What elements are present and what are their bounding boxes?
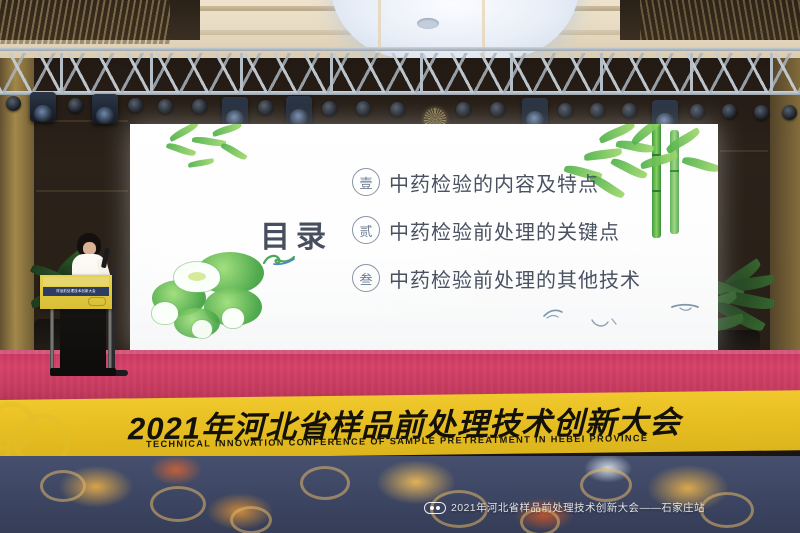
list-item: 贰 中药检验前处理的关键点 [352, 206, 692, 254]
item-text-3: 中药检验前处理的其他技术 [389, 264, 641, 293]
conference-photo: 目录 壹 中药检验的内容及特点 贰 中药检验前处理的关键点 叁 中药检验前处理的… [0, 0, 800, 533]
stage-banner: 2021年河北省样品前处理技术创新大会 TECHNICAL INNOVATION… [0, 390, 800, 460]
agenda-list: 壹 中药检验的内容及特点 贰 中药检验前处理的关键点 叁 中药检验前处理的其他技… [352, 158, 692, 302]
podium-sign: 样品前处理技术创新大会 [40, 275, 112, 309]
item-numeral-3: 叁 [352, 264, 380, 292]
podium [60, 300, 106, 372]
lighting-truss [0, 47, 800, 109]
chandelier-right [640, 0, 800, 40]
watermark: 2021年河北省样品前处理技术创新大会——石家庄站 [424, 500, 705, 515]
item-numeral-1: 壹 [352, 168, 380, 196]
watermark-text: 2021年河北省样品前处理技术创新大会——石家庄站 [451, 500, 705, 515]
chandelier-left [0, 0, 170, 44]
watermark-logo-icon [424, 502, 446, 514]
podium-sign-logo-icon [88, 297, 106, 306]
hotel-carpet [0, 456, 800, 533]
list-item: 壹 中药检验的内容及特点 [352, 158, 692, 206]
item-numeral-2: 贰 [352, 216, 380, 244]
slide-content: 目录 壹 中药检验的内容及特点 贰 中药检验前处理的关键点 叁 中药检验前处理的… [130, 124, 718, 350]
item-text-2: 中药检验前处理的关键点 [389, 216, 620, 245]
list-item: 叁 中药检验前处理的其他技术 [352, 254, 692, 302]
ceiling-vent [417, 18, 439, 29]
item-text-1: 中药检验的内容及特点 [389, 168, 599, 197]
page-title: 目录 [260, 212, 332, 256]
led-presentation-screen: 目录 壹 中药检验的内容及特点 贰 中药检验前处理的关键点 叁 中药检验前处理的… [130, 124, 718, 350]
podium-base [50, 368, 116, 376]
mic-stand [112, 268, 115, 372]
podium-sign-text: 样品前处理技术创新大会 [43, 287, 109, 296]
